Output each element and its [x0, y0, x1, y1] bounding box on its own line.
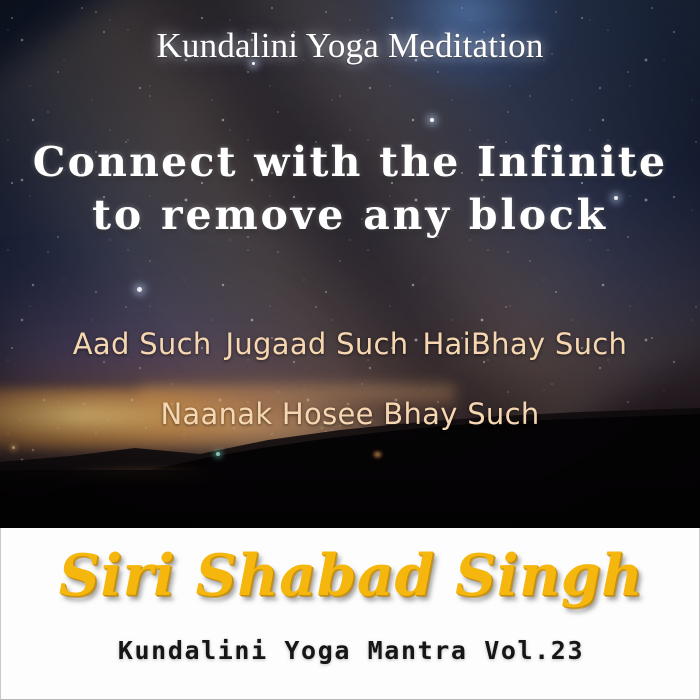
mantra-phrase-1: Aad Such [73, 327, 212, 361]
mantra-line-2: Naanak Hosee Bhay Such [0, 397, 700, 431]
mantra-phrase-3: HaiBhay Such [422, 327, 627, 361]
artist-name: Siri Shabad Singh [1, 546, 700, 606]
mantra-phrase-2: Jugaad Such [226, 327, 409, 361]
album-subtitle: Kundalini Yoga Mantra Vol.23 [1, 636, 700, 665]
headline-line-1: Connect with the Infinite [0, 136, 700, 189]
headline: Connect with the Infinite to remove any … [0, 136, 700, 243]
headline-line-2: to remove any block [0, 189, 700, 242]
album-cover: Kundalini Yoga Meditation Connect with t… [0, 0, 700, 700]
mantra-line-1: Aad SuchJugaad SuchHaiBhay Such [0, 327, 700, 361]
title-band: Siri Shabad Singh Kundalini Yoga Mantra … [0, 528, 700, 700]
top-title: Kundalini Yoga Meditation [0, 27, 700, 66]
